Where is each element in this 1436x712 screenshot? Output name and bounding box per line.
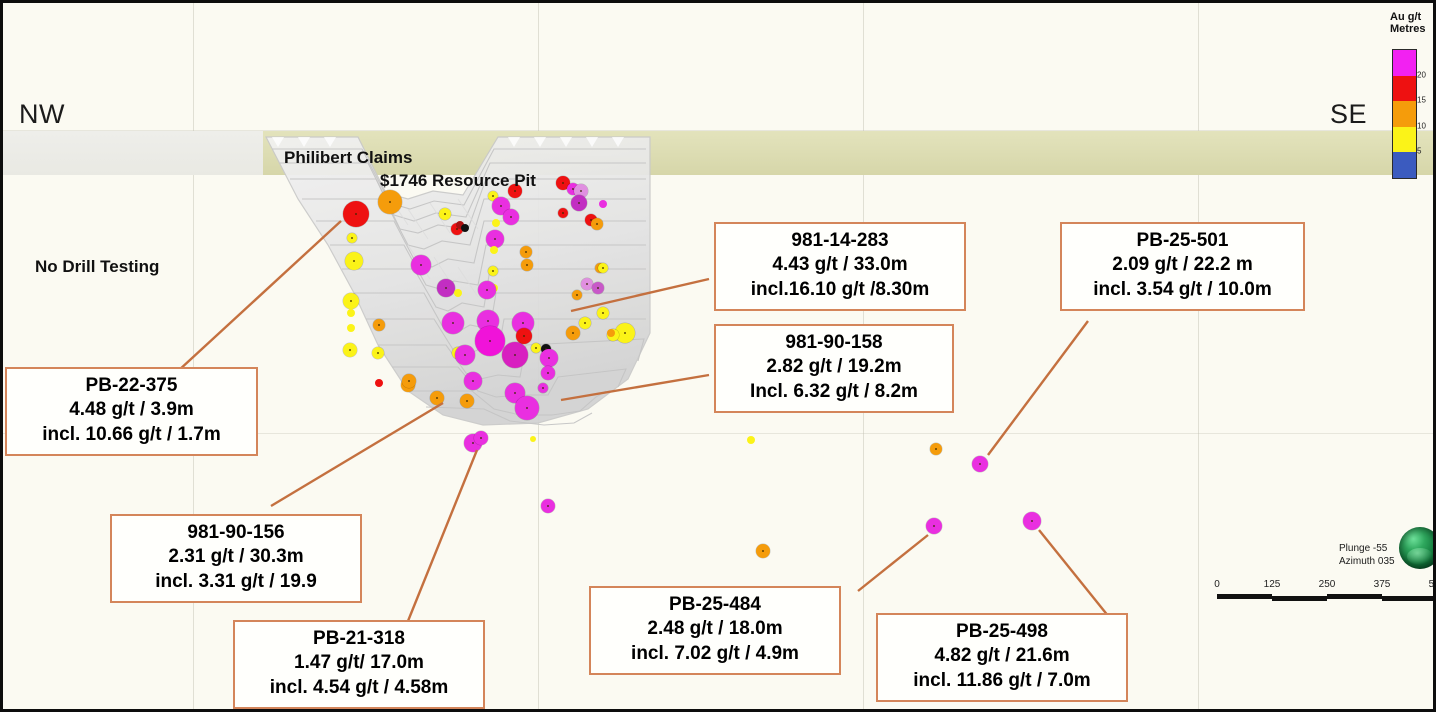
drill-intercept-dot (460, 394, 474, 408)
legend-color-segment (1393, 101, 1416, 127)
drill-intercept-dot (402, 374, 416, 388)
drill-intercept-dot (343, 201, 369, 227)
drill-intercept-dot (531, 343, 541, 353)
drill-intercept-dot (345, 252, 363, 270)
drill-collar-dot (355, 213, 357, 215)
legend-color-segment (1393, 50, 1416, 76)
callout-interval: 1.47 g/t/ 17.0m (247, 651, 471, 675)
callout-included: incl.16.10 g/t /8.30m (728, 278, 952, 302)
drill-collar-dot (526, 264, 528, 266)
drill-intercept-dot (521, 259, 533, 271)
drill-collar-dot (377, 352, 379, 354)
drill-collar-dot (979, 463, 981, 465)
label-resource-pit: $1746 Resource Pit (380, 171, 536, 191)
callout-hole-id: PB-25-501 (1074, 229, 1291, 253)
drill-collar-dot (353, 260, 355, 262)
drill-intercept-dot (347, 324, 355, 332)
drill-intercept-dot (490, 246, 498, 254)
callout-included: incl. 3.54 g/t / 10.0m (1074, 278, 1291, 302)
direction-label-nw: NW (19, 99, 65, 130)
callout-hole-id: PB-22-375 (19, 374, 244, 398)
scale-bar: 0125250375500 (1217, 579, 1436, 601)
callout-hole-id: 981-90-156 (124, 521, 348, 545)
drill-collar-dot (351, 237, 353, 239)
drill-intercept-dot (478, 281, 496, 299)
drill-intercept-dot (926, 518, 942, 534)
drill-collar-dot (580, 190, 582, 192)
callout-interval: 2.09 g/t / 22.2 m (1074, 253, 1291, 277)
drill-collar-dot (597, 287, 599, 289)
callout-interval: 4.82 g/t / 21.6m (890, 644, 1114, 668)
drill-intercept-dot (598, 263, 608, 273)
scale-bar-tick: 375 (1374, 579, 1391, 590)
drill-collar-dot (466, 400, 468, 402)
callout-pb-25-498[interactable]: PB-25-498 4.82 g/t / 21.6m incl. 11.86 g… (876, 613, 1128, 702)
drill-intercept-dot (347, 309, 355, 317)
callout-hole-id: PB-21-318 (247, 627, 471, 651)
drill-intercept-dot (558, 208, 568, 218)
drill-collar-dot (572, 332, 574, 334)
callout-interval: 4.48 g/t / 3.9m (19, 398, 244, 422)
drill-collar-dot (562, 212, 564, 214)
drill-intercept-dot (579, 317, 591, 329)
drill-intercept-dot (571, 195, 587, 211)
callout-included: incl. 10.66 g/t / 1.7m (19, 423, 244, 447)
hazeur-claims-band (3, 131, 263, 175)
drill-collar-dot (576, 294, 578, 296)
drill-collar-dot (602, 267, 604, 269)
scale-bar-segment (1272, 596, 1327, 601)
drill-intercept-dot (464, 372, 482, 390)
legend-color-segment (1393, 152, 1416, 178)
drill-collar-dot (452, 322, 454, 324)
drill-intercept-dot (437, 279, 455, 297)
callout-included: Incl. 6.32 g/t / 8.2m (728, 380, 940, 404)
callout-included: incl. 7.02 g/t / 4.9m (603, 642, 827, 666)
callout-hole-id: 981-14-283 (728, 229, 952, 253)
drill-collar-dot (584, 322, 586, 324)
drill-intercept-dot (599, 200, 607, 208)
drill-intercept-dot (756, 544, 770, 558)
drill-intercept-dot (372, 347, 384, 359)
drill-collar-dot (408, 380, 410, 382)
drill-collar-dot (514, 392, 516, 394)
callout-included: incl. 11.86 g/t / 7.0m (890, 669, 1114, 693)
color-legend: Au g/t Metres 2015105 (1387, 3, 1433, 208)
scale-bar-tick: 250 (1319, 579, 1336, 590)
drill-intercept-dot (540, 349, 558, 367)
drill-intercept-dot (597, 307, 609, 319)
scale-bar-tick: 500 (1429, 579, 1436, 590)
drill-intercept-dot (454, 289, 462, 297)
drill-intercept-dot (530, 436, 536, 442)
drill-collar-dot (500, 205, 502, 207)
drill-intercept-dot (373, 319, 385, 331)
drill-collar-dot (389, 201, 391, 203)
grid-line-vertical (193, 3, 194, 709)
drill-collar-dot (525, 251, 527, 253)
callout-interval: 4.43 g/t / 33.0m (728, 253, 952, 277)
direction-label-se: SE (1330, 99, 1367, 130)
orientation-readout: Plunge -55 Azimuth 035 (1339, 543, 1395, 568)
legend-tick: 5 (1417, 147, 1421, 156)
drill-intercept-dot (541, 366, 555, 380)
scale-bar-tick: 0 (1214, 579, 1220, 590)
drill-collar-dot (762, 550, 764, 552)
drill-collar-dot (486, 289, 488, 291)
drill-collar-dot (933, 525, 935, 527)
drill-intercept-dot (411, 255, 431, 275)
callout-pb-21-318[interactable]: PB-21-318 1.47 g/t/ 17.0m incl. 4.54 g/t… (233, 620, 485, 709)
scale-bar-segment (1382, 596, 1436, 601)
callout-included: incl. 3.31 g/t / 19.9 (124, 570, 348, 594)
drill-intercept-dot (520, 246, 532, 258)
drill-intercept-dot (439, 208, 451, 220)
drill-intercept-dot (343, 343, 357, 357)
drill-collar-dot (548, 357, 550, 359)
compass-sphere-icon (1399, 527, 1436, 569)
drill-collar-dot (350, 300, 352, 302)
drill-collar-dot (492, 270, 494, 272)
drill-collar-dot (514, 354, 516, 356)
drill-collar-dot (487, 320, 489, 322)
drill-collar-dot (562, 182, 564, 184)
drill-intercept-dot (515, 396, 539, 420)
drill-collar-dot (624, 332, 626, 334)
drill-collar-dot (464, 354, 466, 356)
drill-collar-dot (523, 335, 525, 337)
drill-intercept-dot (343, 293, 359, 309)
legend-title: Au g/t Metres (1390, 11, 1425, 36)
callout-981-90-156[interactable]: 981-90-156 2.31 g/t / 30.3m incl. 3.31 g… (110, 514, 362, 603)
drill-collar-dot (547, 372, 549, 374)
drill-collar-dot (489, 340, 491, 342)
legend-color-bar (1392, 49, 1417, 179)
callout-interval: 2.48 g/t / 18.0m (603, 617, 827, 641)
drill-intercept-dot (572, 290, 582, 300)
callout-hole-id: PB-25-498 (890, 620, 1114, 644)
scale-bar-track (1217, 594, 1436, 601)
drill-collar-dot (1031, 520, 1033, 522)
drill-intercept-dot (607, 329, 615, 337)
callout-interval: 2.31 g/t / 30.3m (124, 545, 348, 569)
drill-intercept-dot (541, 499, 555, 513)
drill-intercept-dot (375, 379, 383, 387)
drill-collar-dot (547, 505, 549, 507)
label-philibert-claims: Philibert Claims (284, 148, 412, 168)
drill-collar-dot (492, 195, 494, 197)
label-no-drill-testing: No Drill Testing (35, 257, 159, 277)
callout-interval: 2.82 g/t / 19.2m (728, 355, 940, 379)
grid-line-vertical (1198, 3, 1199, 709)
drill-intercept-dot (930, 443, 942, 455)
drill-intercept-dot (1023, 512, 1041, 530)
drill-intercept-dot (503, 209, 519, 225)
drill-intercept-dot (592, 282, 604, 294)
scale-bar-segment (1327, 594, 1382, 599)
drill-collar-dot (349, 349, 351, 351)
legend-color-segment (1393, 76, 1416, 102)
section-figure: NW SE Hazeur Claims Philibert Claims $17… (0, 0, 1436, 712)
legend-title-line1: Au g/t (1390, 11, 1425, 23)
drill-collar-dot (586, 283, 588, 285)
drill-intercept-dot (538, 383, 548, 393)
drill-intercept-dot (747, 436, 755, 444)
drill-collar-dot (578, 202, 580, 204)
drill-collar-dot (542, 387, 544, 389)
drill-intercept-dot (972, 456, 988, 472)
drill-collar-dot (436, 397, 438, 399)
drill-collar-dot (378, 324, 380, 326)
drill-intercept-dot (347, 233, 357, 243)
drill-intercept-dot (591, 218, 603, 230)
drill-collar-dot (494, 238, 496, 240)
drill-intercept-dot (442, 312, 464, 334)
drill-intercept-dot (492, 219, 500, 227)
drill-intercept-dot (461, 224, 469, 232)
legend-tick-labels: 2015105 (1417, 49, 1433, 177)
callout-pb-22-375[interactable]: PB-22-375 4.48 g/t / 3.9m incl. 10.66 g/… (5, 367, 258, 456)
callout-hole-id: PB-25-484 (603, 593, 827, 617)
drill-collar-dot (526, 407, 528, 409)
drill-intercept-dot (474, 431, 488, 445)
drill-collar-dot (935, 448, 937, 450)
drill-collar-dot (472, 380, 474, 382)
drill-collar-dot (535, 347, 537, 349)
scale-bar-tick: 125 (1264, 579, 1281, 590)
drill-collar-dot (472, 442, 474, 444)
callout-hole-id: 981-90-158 (728, 331, 940, 355)
callout-included: incl. 4.54 g/t / 4.58m (247, 676, 471, 700)
drill-collar-dot (480, 437, 482, 439)
callout-pb-25-484[interactable]: PB-25-484 2.48 g/t / 18.0m incl. 7.02 g/… (589, 586, 841, 675)
drill-collar-dot (510, 216, 512, 218)
drill-collar-dot (420, 264, 422, 266)
callout-981-90-158[interactable]: 981-90-158 2.82 g/t / 19.2m Incl. 6.32 g… (714, 324, 954, 413)
scale-bar-segment (1217, 594, 1272, 599)
callout-981-14-283[interactable]: 981-14-283 4.43 g/t / 33.0m incl.16.10 g… (714, 222, 966, 311)
callout-pb-25-501[interactable]: PB-25-501 2.09 g/t / 22.2 m incl. 3.54 g… (1060, 222, 1305, 311)
legend-title-line2: Metres (1390, 23, 1425, 35)
drill-collar-dot (602, 312, 604, 314)
drill-collar-dot (596, 223, 598, 225)
drill-intercept-dot (488, 266, 498, 276)
legend-tick: 15 (1417, 96, 1426, 105)
drill-intercept-dot (566, 326, 580, 340)
drill-collar-dot (445, 287, 447, 289)
azimuth-value: Azimuth 035 (1339, 556, 1395, 569)
drill-intercept-dot (378, 190, 402, 214)
plunge-value: Plunge -55 (1339, 543, 1395, 556)
legend-tick: 20 (1417, 70, 1426, 79)
scale-bar-labels: 0125250375500 (1217, 579, 1436, 592)
drill-intercept-dot (502, 342, 528, 368)
legend-color-segment (1393, 127, 1416, 153)
drill-intercept-dot (475, 326, 505, 356)
drill-intercept-dot (430, 391, 444, 405)
drill-collar-dot (522, 322, 524, 324)
drill-collar-dot (444, 213, 446, 215)
drill-intercept-dot (455, 345, 475, 365)
legend-tick: 10 (1417, 121, 1426, 130)
